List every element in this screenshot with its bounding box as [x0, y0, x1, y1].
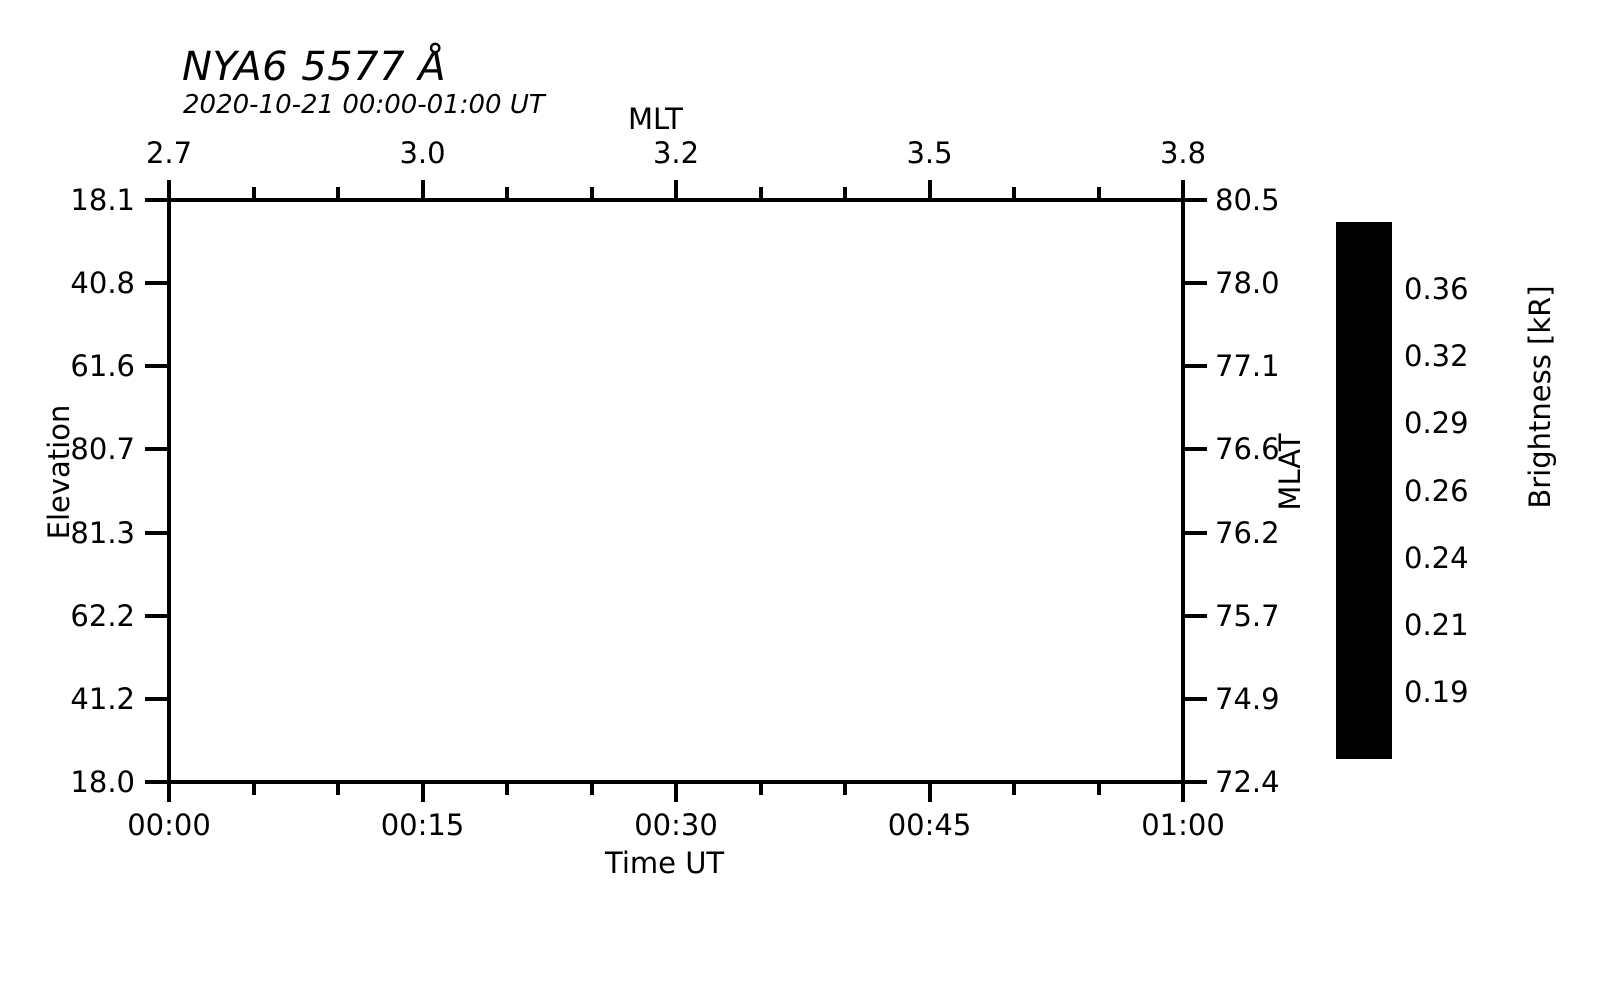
colorbar-tick-label: 0.36 [1404, 272, 1469, 306]
left-tick-label: 80.7 [70, 432, 135, 466]
top-major-tick [421, 180, 425, 200]
right-tick [1183, 447, 1207, 451]
top-tick-label: 2.7 [146, 136, 192, 170]
right-tick-label: 74.9 [1215, 682, 1280, 716]
left-tick-label: 61.6 [70, 349, 135, 383]
colorbar-title: Brightness [kR] [1523, 237, 1557, 557]
bottom-tick-label: 01:00 [1141, 808, 1225, 842]
right-tick-label: 80.5 [1215, 183, 1280, 217]
left-tick [145, 697, 169, 701]
colorbar-tick-label: 0.24 [1404, 541, 1469, 575]
keogram-figure: NYA6 5577 Å 2020-10-21 00:00-01:00 UT ML… [0, 0, 1600, 1000]
left-tick [145, 447, 169, 451]
bottom-minor-tick [1012, 782, 1016, 795]
top-major-tick [674, 180, 678, 200]
plot-subtitle: 2020-10-21 00:00-01:00 UT [183, 90, 545, 120]
bottom-major-tick [674, 782, 678, 802]
bottom-tick-label: 00:30 [634, 808, 718, 842]
top-minor-tick [252, 187, 256, 200]
right-tick-label: 76.2 [1215, 516, 1280, 550]
left-tick [145, 281, 169, 285]
colorbar-separator [1336, 421, 1392, 425]
bottom-minor-tick [590, 782, 594, 795]
bottom-tick-label: 00:00 [127, 808, 211, 842]
bottom-minor-tick [336, 782, 340, 795]
top-major-tick [928, 180, 932, 200]
top-tick-label: 3.5 [906, 136, 952, 170]
top-minor-tick [590, 187, 594, 200]
left-tick [145, 364, 169, 368]
left-tick [145, 780, 169, 784]
top-major-tick [167, 180, 171, 200]
left-tick [145, 531, 169, 535]
bottom-minor-tick [505, 782, 509, 795]
bottom-minor-tick [843, 782, 847, 795]
top-minor-tick [1012, 187, 1016, 200]
right-tick-label: 77.1 [1215, 349, 1280, 383]
left-tick-label: 18.0 [70, 765, 135, 799]
colorbar-tick-label: 0.19 [1404, 675, 1469, 709]
top-tick-label: 3.0 [399, 136, 445, 170]
colorbar-separator [1336, 623, 1392, 627]
top-minor-tick [843, 187, 847, 200]
plot-frame [167, 198, 1185, 784]
left-tick-label: 81.3 [70, 516, 135, 550]
right-tick [1183, 364, 1207, 368]
left-tick-label: 41.2 [70, 682, 135, 716]
right-tick [1183, 198, 1207, 202]
left-tick [145, 198, 169, 202]
top-major-tick [1181, 180, 1185, 200]
colorbar-separator [1336, 690, 1392, 694]
colorbar-tick-label: 0.26 [1404, 474, 1469, 508]
colorbar-tick-label: 0.32 [1404, 339, 1469, 373]
top-minor-tick [336, 187, 340, 200]
right-tick-label: 78.0 [1215, 266, 1280, 300]
top-tick-label: 3.2 [653, 136, 699, 170]
left-tick-label: 62.2 [70, 599, 135, 633]
top-axis-title: MLT [628, 102, 683, 136]
plot-title: NYA6 5577 Å [182, 44, 446, 90]
right-tick [1183, 697, 1207, 701]
bottom-axis-title: Time UT [605, 846, 724, 880]
right-tick [1183, 614, 1207, 618]
bottom-minor-tick [252, 782, 256, 795]
colorbar-separator [1336, 556, 1392, 560]
bottom-tick-label: 00:15 [381, 808, 465, 842]
bottom-minor-tick [759, 782, 763, 795]
top-minor-tick [759, 187, 763, 200]
colorbar-separator [1336, 354, 1392, 358]
right-tick [1183, 281, 1207, 285]
right-tick-label: 76.6 [1215, 432, 1280, 466]
bottom-major-tick [1181, 782, 1185, 802]
top-minor-tick [1097, 187, 1101, 200]
left-tick-label: 40.8 [70, 266, 135, 300]
colorbar-tick-label: 0.21 [1404, 608, 1469, 642]
bottom-major-tick [167, 782, 171, 802]
colorbar-separator [1336, 489, 1392, 493]
bottom-major-tick [928, 782, 932, 802]
left-tick-label: 18.1 [70, 183, 135, 217]
bottom-major-tick [421, 782, 425, 802]
bottom-tick-label: 00:45 [888, 808, 972, 842]
colorbar-separator [1336, 287, 1392, 291]
colorbar-tick-label: 0.29 [1404, 406, 1469, 440]
top-minor-tick [505, 187, 509, 200]
bottom-minor-tick [1097, 782, 1101, 795]
right-tick-label: 72.4 [1215, 765, 1280, 799]
top-tick-label: 3.8 [1160, 136, 1206, 170]
left-tick [145, 614, 169, 618]
right-tick-label: 75.7 [1215, 599, 1280, 633]
right-tick [1183, 780, 1207, 784]
right-tick [1183, 531, 1207, 535]
